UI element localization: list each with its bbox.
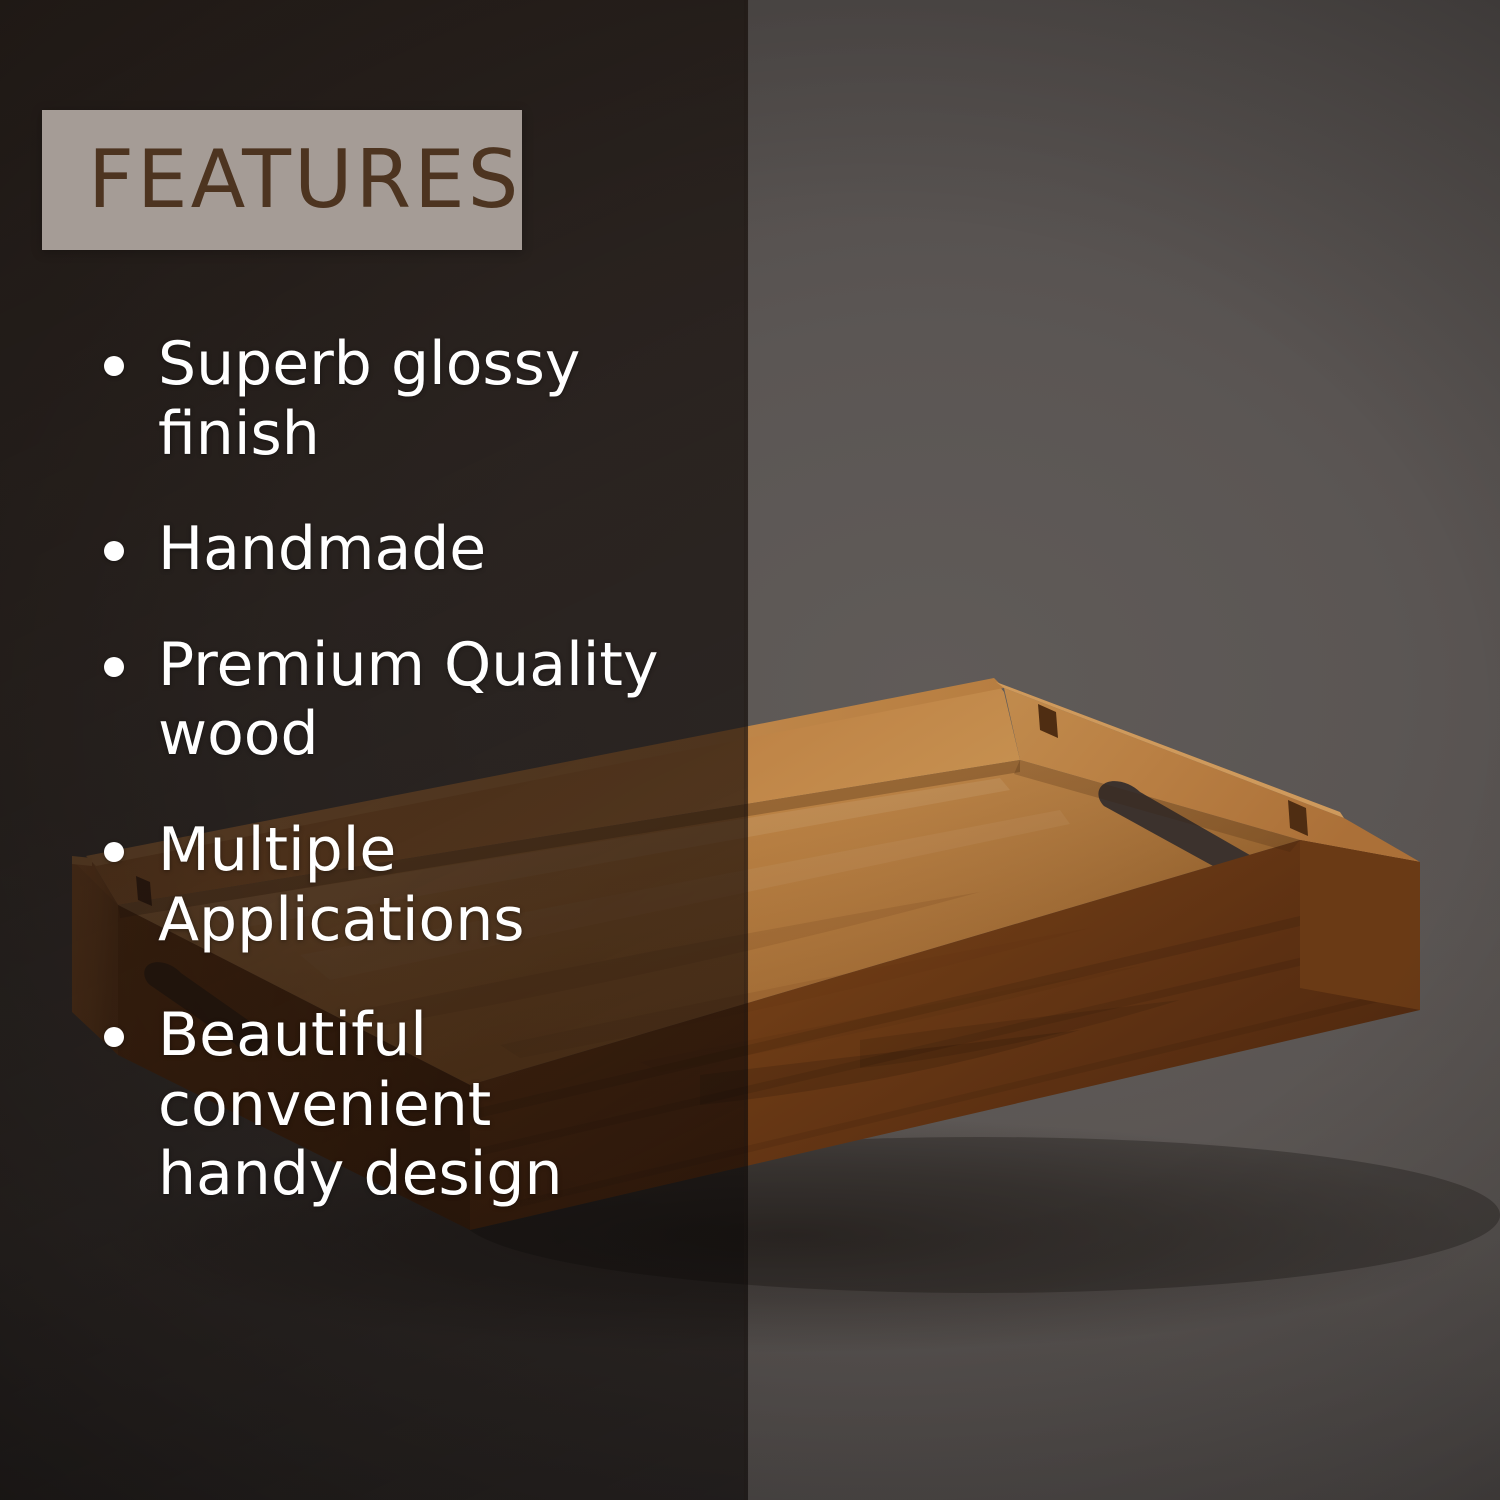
- feature-label: Handmade: [158, 515, 686, 585]
- features-list: Superb glossy finish Handmade Premium Qu…: [86, 330, 686, 1210]
- list-item: Handmade: [86, 515, 686, 585]
- feature-label: Beautiful convenient handy design: [158, 1001, 686, 1210]
- feature-label: Premium Quality wood: [158, 631, 686, 770]
- feature-label: Superb glossy finish: [158, 330, 686, 469]
- bullet-icon: [104, 541, 124, 561]
- feature-label: Multiple Applications: [158, 816, 686, 955]
- bullet-icon: [104, 842, 124, 862]
- features-title-box: FEATURES: [42, 110, 522, 250]
- bullet-icon: [104, 1027, 124, 1047]
- product-feature-graphic: FEATURES Superb glossy finish Handmade P…: [0, 0, 1500, 1500]
- text-layer: FEATURES Superb glossy finish Handmade P…: [0, 0, 1500, 1500]
- bullet-icon: [104, 356, 124, 376]
- list-item: Premium Quality wood: [86, 631, 686, 770]
- list-item: Beautiful convenient handy design: [86, 1001, 686, 1210]
- page-title: FEATURES: [88, 140, 521, 220]
- list-item: Multiple Applications: [86, 816, 686, 955]
- bullet-icon: [104, 657, 124, 677]
- list-item: Superb glossy finish: [86, 330, 686, 469]
